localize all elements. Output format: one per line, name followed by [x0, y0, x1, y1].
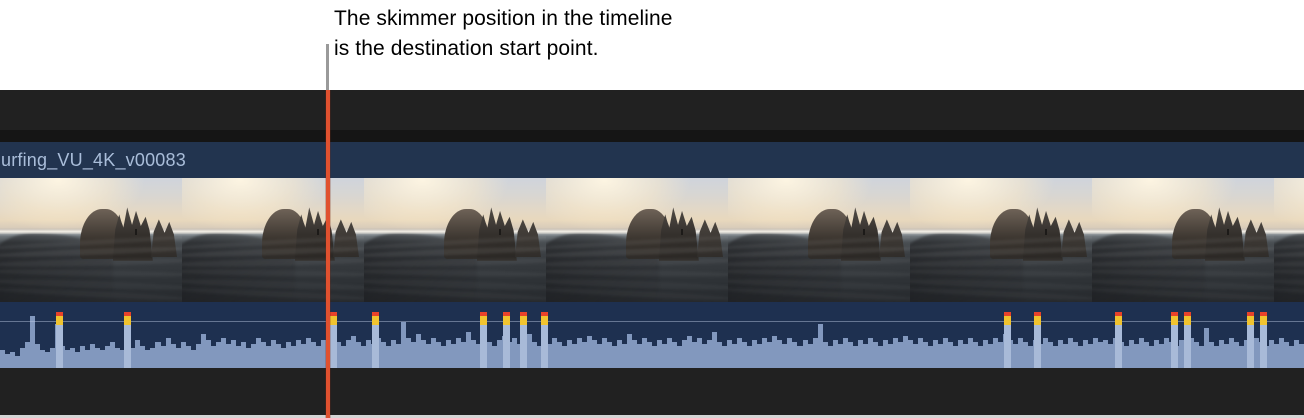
timeline-clip[interactable]: urfing_VU_4K_v00083 — [0, 142, 1304, 368]
audio-peak-indicator — [1247, 316, 1254, 368]
audio-peak-indicator — [520, 316, 527, 368]
filmstrip-frame — [1092, 178, 1274, 302]
audio-peak-indicator — [1184, 316, 1191, 368]
annotation-caption: The skimmer position in the timeline is … — [334, 0, 954, 88]
final-cut-pro-timeline-screenshot: The skimmer position in the timeline is … — [0, 0, 1304, 418]
waveform-bar — [1299, 344, 1304, 368]
filmstrip-frame — [0, 178, 182, 302]
clip-audio-waveform[interactable] — [0, 302, 1304, 368]
filmstrip-frame — [910, 178, 1092, 302]
clip-filmstrip[interactable] — [0, 178, 1304, 302]
timeline-upper-band — [0, 130, 1304, 142]
clip-titlebar[interactable]: urfing_VU_4K_v00083 — [0, 142, 1304, 178]
audio-peak-indicator — [541, 316, 548, 368]
filmstrip-frame — [728, 178, 910, 302]
filmstrip-frame — [1274, 178, 1304, 302]
clip-name-label: urfing_VU_4K_v00083 — [0, 150, 186, 171]
waveform-bars — [0, 302, 1304, 368]
audio-peak-indicator — [1115, 316, 1122, 368]
audio-peak-indicator — [124, 316, 131, 368]
filmstrip-frame — [546, 178, 728, 302]
caption-line-2: is the destination start point. — [334, 34, 954, 64]
filmstrip-frame — [182, 178, 364, 302]
audio-peak-indicator — [1034, 316, 1041, 368]
caption-line-1: The skimmer position in the timeline — [334, 4, 954, 34]
timeline-panel[interactable]: urfing_VU_4K_v00083 — [0, 90, 1304, 418]
filmstrip-frame — [364, 178, 546, 302]
audio-peak-indicator — [1004, 316, 1011, 368]
audio-peak-indicator — [330, 316, 337, 368]
skimmer-playhead[interactable] — [326, 90, 330, 418]
audio-peak-indicator — [56, 316, 63, 368]
waveform-center-axis — [0, 321, 1304, 322]
audio-peak-indicator — [480, 316, 487, 368]
audio-peak-indicator — [1260, 316, 1267, 368]
audio-peak-indicator — [1171, 316, 1178, 368]
audio-peak-indicator — [503, 316, 510, 368]
audio-peak-indicator — [372, 316, 379, 368]
callout-leader-line — [326, 44, 329, 90]
